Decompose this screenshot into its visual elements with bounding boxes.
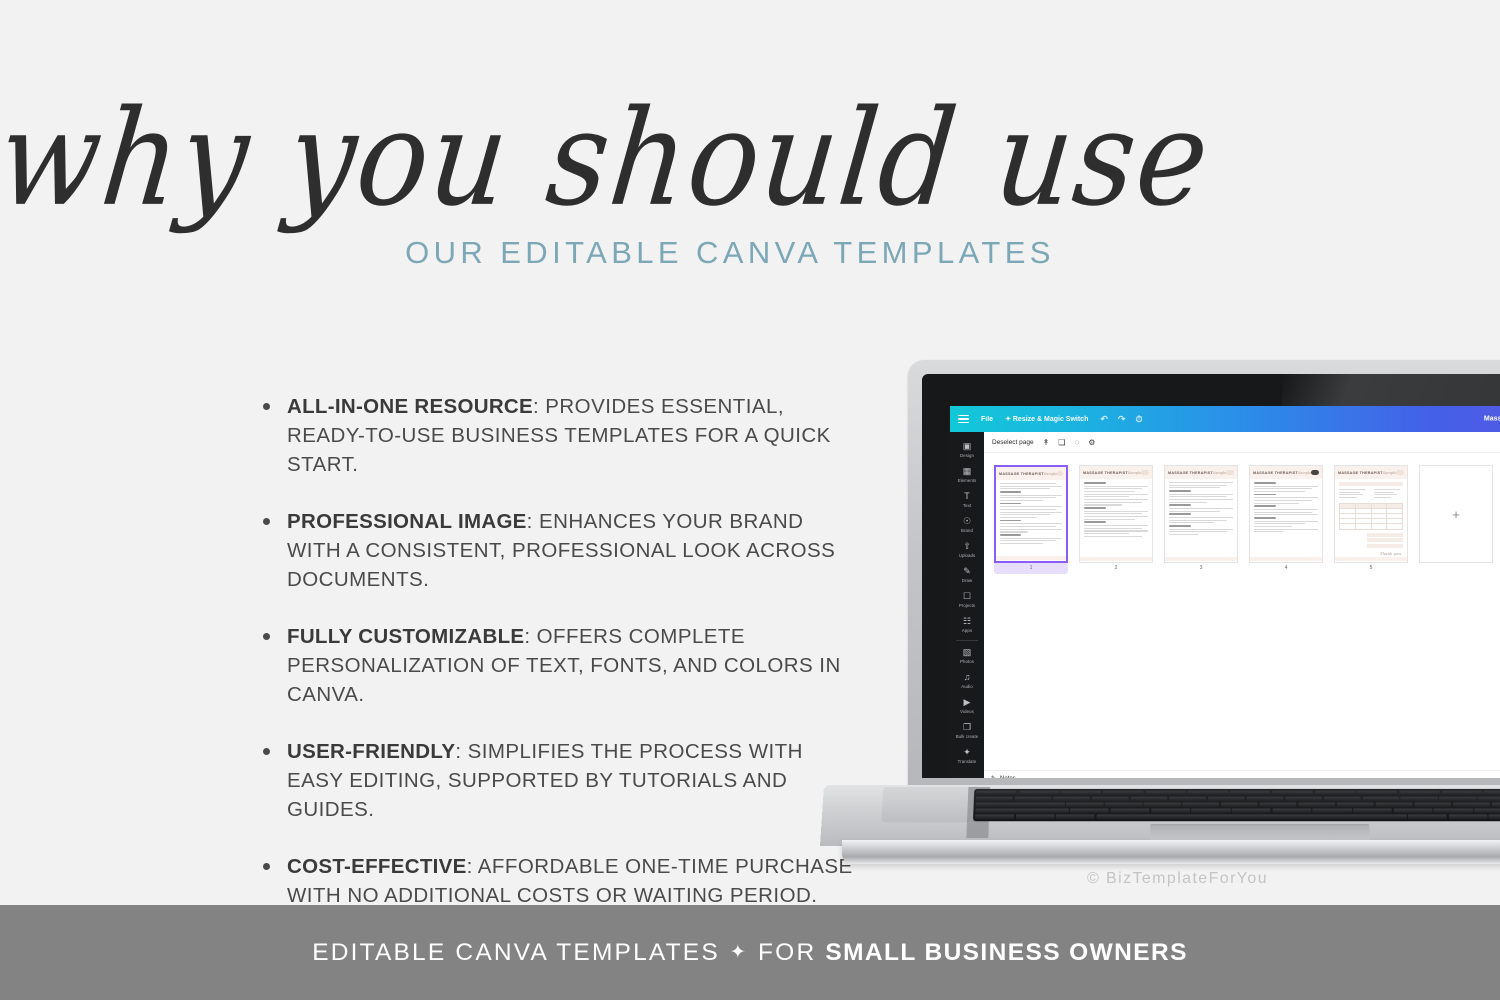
copyright-icon: © (1087, 870, 1100, 887)
doc-script-mark: Sample (1298, 471, 1312, 475)
sidebar-item-projects[interactable]: ☐ Projects (950, 587, 984, 612)
doc-header: MASSAGE THERAPIST Sample (996, 467, 1066, 480)
canva-sidebar: ▣ Design ▦ Elements T Text ☉ (950, 432, 984, 778)
sidebar-divider (956, 640, 978, 641)
benefit-lead: FULLY CUSTOMIZABLE (287, 625, 524, 648)
page-number: 5 (1334, 563, 1408, 574)
sidebar-item-uploads[interactable]: ⇧ Uploads (950, 537, 984, 562)
sidebar-item-photos[interactable]: ▧ Photos (950, 643, 984, 668)
sidebar-item-videos[interactable]: ▶ Videos (950, 693, 984, 718)
photos-icon: ▧ (950, 647, 984, 658)
watermark: © BizTemplateForYou (1087, 870, 1268, 888)
translate-icon: ✦ (950, 747, 984, 758)
add-page-slot[interactable]: + (1419, 465, 1493, 563)
page-thumbnail-3[interactable]: MASSAGE THERAPIST Sample (1164, 465, 1238, 574)
videos-icon: ▶ (950, 697, 984, 708)
page-thumbnail-5[interactable]: MASSAGE THERAPIST Sample (1334, 465, 1408, 574)
trash-icon[interactable]: ⚙ (1088, 438, 1095, 447)
sidebar-item-label: Audio (950, 684, 984, 690)
doc-script-mark: Sample (1383, 471, 1397, 475)
footer-lead: EDITABLE CANVA TEMPLATES (312, 939, 720, 966)
palm-rest-left (881, 787, 977, 822)
canva-body: ▣ Design ▦ Elements T Text ☉ (950, 432, 1500, 778)
document-title[interactable]: Massage Therapist Independ (1484, 416, 1500, 423)
list-item: USER-FRIENDLY: SIMPLIFIES THE PROCESS WI… (255, 737, 855, 824)
audio-icon: ♫ (950, 672, 984, 683)
page-subtitle: OUR EDITABLE CANVA TEMPLATES (280, 235, 1180, 271)
canva-topbar: File ✦ Resize & Magic Switch ↶ ↷ ⏱ Massa… (950, 406, 1500, 432)
benefit-lead: PROFESSIONAL IMAGE (287, 510, 527, 533)
sidebar-item-brand[interactable]: ☉ Brand (950, 512, 984, 537)
doc-body (996, 480, 1066, 544)
doc-badge (1311, 470, 1319, 475)
page-card[interactable]: MASSAGE THERAPIST Sample (1334, 465, 1408, 563)
doc-title-text: MASSAGE THERAPIST (1253, 471, 1298, 475)
sidebar-item-elements[interactable]: ▦ Elements (950, 462, 984, 487)
sidebar-item-label: Translate (950, 759, 984, 765)
footer-bar: EDITABLE CANVA TEMPLATES✦FOR SMALL BUSIN… (0, 905, 1500, 1000)
deselect-page-button[interactable]: Deselect page (992, 439, 1034, 446)
doc-header: MASSAGE THERAPIST Sample (1250, 466, 1322, 479)
duplicate-icon[interactable]: ❏ (1058, 438, 1065, 447)
design-icon: ▣ (950, 441, 984, 452)
laptop-screen-bezel: File ✦ Resize & Magic Switch ↶ ↷ ⏱ Massa… (922, 374, 1500, 778)
sidebar-item-label: Apps (950, 628, 984, 634)
apps-icon: ☷ (950, 616, 984, 627)
page-thumbnail-2[interactable]: MASSAGE THERAPIST Sample (1079, 465, 1153, 574)
benefit-lead: USER-FRIENDLY (287, 740, 455, 763)
redo-icon[interactable]: ↷ (1118, 414, 1126, 425)
list-item: PROFESSIONAL IMAGE: ENHANCES YOUR BRAND … (255, 507, 855, 594)
notes-label: Notes (1000, 776, 1016, 779)
doc-body (1080, 479, 1152, 537)
sidebar-item-text[interactable]: T Text (950, 487, 984, 512)
doc-footer (1080, 557, 1152, 561)
canva-app-window: File ✦ Resize & Magic Switch ↶ ↷ ⏱ Massa… (950, 406, 1500, 778)
sidebar-item-label: Draw (950, 578, 984, 584)
laptop-lid: File ✦ Resize & Magic Switch ↶ ↷ ⏱ Massa… (908, 360, 1500, 790)
projects-icon: ☐ (950, 591, 984, 602)
doc-title-text: MASSAGE THERAPIST (999, 472, 1044, 476)
sidebar-item-bulk-create[interactable]: ❐ Bulk create (950, 718, 984, 743)
add-page-button[interactable]: + (1419, 465, 1493, 563)
plus-icon: + (1452, 507, 1460, 522)
doc-header: MASSAGE THERAPIST Sample (1080, 466, 1152, 479)
sidebar-item-label: Bulk create (950, 734, 984, 740)
list-item: COST-EFFECTIVE: AFFORDABLE ONE-TIME PURC… (255, 852, 855, 910)
footer-text: EDITABLE CANVA TEMPLATES✦FOR SMALL BUSIN… (312, 939, 1188, 967)
page-thumbnail-4[interactable]: MASSAGE THERAPIST Sample (1249, 465, 1323, 574)
hide-page-icon[interactable]: ◌ (1074, 438, 1079, 447)
sidebar-item-design[interactable]: ▣ Design (950, 437, 984, 462)
doc-footer (1165, 557, 1237, 561)
bulk-create-icon: ❐ (950, 722, 984, 733)
page-number: 3 (1164, 563, 1238, 574)
page-number: 4 (1249, 563, 1323, 574)
benefits-list: ALL-IN-ONE RESOURCE: PROVIDES ESSENTIAL,… (255, 392, 855, 910)
doc-body (1165, 479, 1237, 535)
benefit-lead: COST-EFFECTIVE (287, 855, 467, 878)
page-toolbar: Deselect page ↟ ❏ ◌ ⚙ (984, 432, 1500, 453)
invoice-table (1339, 503, 1403, 530)
resize-magic-switch-button[interactable]: ✦ Resize & Magic Switch (1005, 415, 1088, 423)
doc-badge (1057, 471, 1063, 476)
list-item: ALL-IN-ONE RESOURCE: PROVIDES ESSENTIAL,… (255, 392, 855, 479)
file-menu-button[interactable]: File (981, 416, 993, 423)
invoice-meta-bar (1339, 482, 1403, 486)
invoice-parties (1335, 489, 1407, 500)
notes-bar[interactable]: ✎ Notes (984, 770, 1500, 778)
doc-badge (1396, 470, 1404, 475)
elements-icon: ▦ (950, 466, 984, 477)
page-card[interactable]: MASSAGE THERAPIST Sample (1249, 465, 1323, 563)
page-card[interactable]: MASSAGE THERAPIST Sample (1164, 465, 1238, 563)
cloud-saved-icon[interactable]: ⏱ (1135, 414, 1142, 425)
page-thumbnail-1[interactable]: MASSAGE THERAPIST Sample (994, 465, 1068, 574)
footer-mid: FOR (758, 939, 816, 966)
benefit-lead: ALL-IN-ONE RESOURCE (287, 395, 533, 418)
page-card[interactable]: MASSAGE THERAPIST Sample (994, 465, 1068, 563)
page-number: 1 (994, 563, 1068, 574)
text-icon: T (950, 491, 984, 502)
sidebar-item-label: Photos (950, 659, 984, 665)
sidebar-item-audio[interactable]: ♫ Audio (950, 668, 984, 693)
share-icon[interactable]: ↟ (1043, 438, 1050, 447)
invoice-totals (1367, 533, 1403, 548)
canva-main-area: Deselect page ↟ ❏ ◌ ⚙ MASSAGE (984, 432, 1500, 778)
headline-block: why you should use OUR EDITABLE CANVA TE… (0, 96, 1180, 271)
sidebar-item-label: Elements (950, 478, 984, 484)
page-number: 2 (1079, 563, 1153, 574)
hamburger-icon[interactable] (958, 413, 969, 425)
sidebar-item-label: Videos (950, 709, 984, 715)
doc-header: MASSAGE THERAPIST Sample (1335, 466, 1407, 479)
doc-badge (1226, 470, 1234, 475)
pages-strip: MASSAGE THERAPIST Sample (984, 453, 1500, 770)
laptop-mockup: File ✦ Resize & Magic Switch ↶ ↷ ⏱ Massa… (820, 360, 1500, 870)
doc-title-text: MASSAGE THERAPIST (1168, 471, 1213, 475)
undo-icon[interactable]: ↶ (1100, 414, 1108, 425)
doc-header: MASSAGE THERAPIST Sample (1165, 466, 1237, 479)
uploads-icon: ⇧ (950, 541, 984, 552)
footer-bold: SMALL BUSINESS OWNERS (825, 939, 1187, 966)
page-title-script: why you should use (0, 88, 1187, 228)
doc-title-text: MASSAGE THERAPIST (1083, 471, 1128, 475)
diamond-icon: ✦ (730, 942, 748, 963)
bullet-icon (263, 863, 270, 870)
notes-icon: ✎ (991, 775, 996, 778)
doc-footer (1335, 557, 1407, 561)
laptop-base-front (842, 840, 1500, 864)
invoice-signature: Thank you (1335, 551, 1407, 556)
doc-title-text: MASSAGE THERAPIST (1338, 471, 1383, 475)
laptop-keyboard (973, 789, 1500, 821)
bullet-icon (263, 748, 270, 755)
sidebar-item-label: Design (950, 453, 984, 459)
doc-footer (996, 556, 1066, 560)
doc-script-mark: Sample (1044, 472, 1058, 476)
sidebar-item-label: Uploads (950, 553, 984, 559)
sidebar-item-apps[interactable]: ☷ Apps (950, 612, 984, 637)
laptop-base-top (820, 785, 1500, 846)
doc-footer (1250, 557, 1322, 561)
page-card[interactable]: MASSAGE THERAPIST Sample (1079, 465, 1153, 563)
sidebar-item-label: Text (950, 503, 984, 509)
bullet-icon (263, 518, 270, 525)
brand-icon: ☉ (950, 516, 984, 527)
sidebar-item-label: Brand (950, 528, 984, 534)
bullet-icon (263, 633, 270, 640)
watermark-text: BizTemplateForYou (1106, 870, 1268, 887)
doc-badge (1141, 470, 1149, 475)
bullet-icon (263, 403, 270, 410)
doc-script-mark: Sample (1213, 471, 1227, 475)
sidebar-item-draw[interactable]: ✎ Draw (950, 562, 984, 587)
doc-script-mark: Sample (1128, 471, 1142, 475)
draw-icon: ✎ (950, 566, 984, 577)
doc-body (1250, 479, 1322, 532)
sidebar-item-translate[interactable]: ✦ Translate (950, 743, 984, 768)
laptop-base (820, 784, 1500, 870)
sidebar-item-label: Projects (950, 603, 984, 609)
list-item: FULLY CUSTOMIZABLE: OFFERS COMPLETE PERS… (255, 622, 855, 709)
